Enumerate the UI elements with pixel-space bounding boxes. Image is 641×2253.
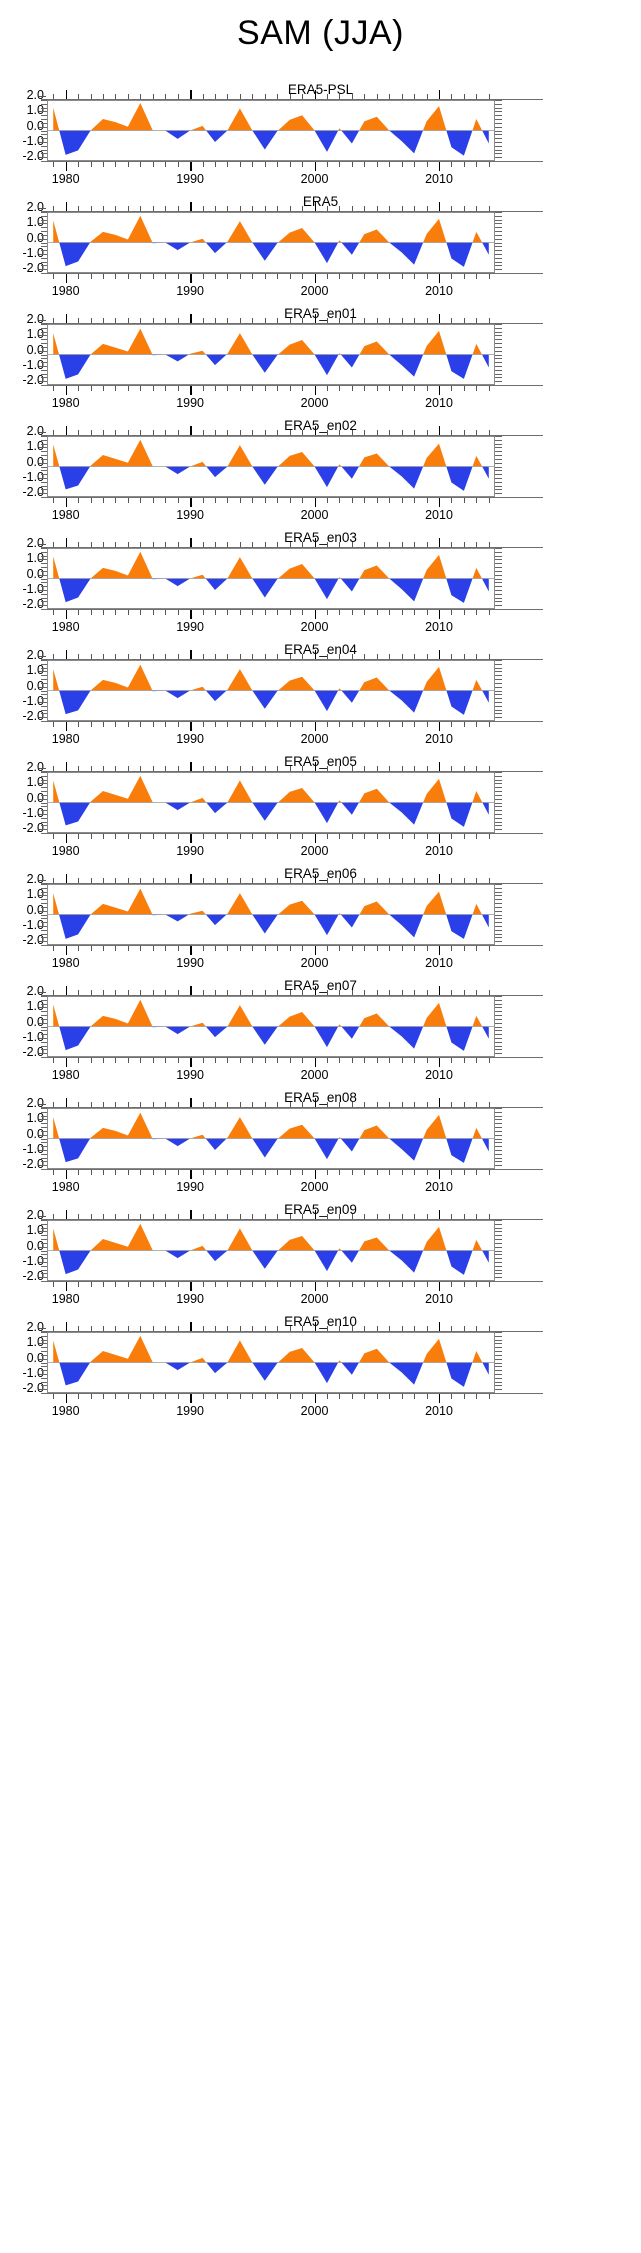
- y-tick-mark: [39, 208, 46, 209]
- x-axis-labels: 1980199020002010: [47, 1180, 495, 1196]
- y-tick-label: -1.0: [0, 696, 44, 706]
- x-tick-label: 2000: [301, 956, 329, 970]
- positive-fill: [53, 1000, 489, 1051]
- x-axis-ticks-top: [47, 762, 495, 771]
- y-tick-label: 0.0: [0, 457, 44, 467]
- y-tick-mark: [39, 432, 46, 433]
- positive-fill: [53, 1224, 489, 1275]
- plot-area: [47, 772, 495, 833]
- x-tick-label: 1980: [52, 956, 80, 970]
- x-tick-label: 2000: [301, 508, 329, 522]
- positive-fill: [53, 552, 489, 603]
- y-axis-labels: 2.01.00.0-1.0-2.0: [0, 1216, 44, 1284]
- y-tick-label: -2.0: [0, 487, 44, 497]
- x-axis-ticks-top: [47, 538, 495, 547]
- x-tick-label: 1990: [176, 284, 204, 298]
- y-tick-mark: [39, 768, 46, 769]
- y-axis-minor-ticks-right: [495, 884, 502, 945]
- series-area-era5-en04: [47, 660, 495, 721]
- x-tick-label: 2000: [301, 284, 329, 298]
- plot-area: [47, 212, 495, 273]
- x-tick-label: 1980: [52, 620, 80, 634]
- y-tick-label: 1.0: [0, 1337, 44, 1347]
- y-axis-minor-ticks-right: [495, 100, 502, 161]
- y-tick-label: 2.0: [0, 1098, 44, 1108]
- y-tick-label: 1.0: [0, 665, 44, 675]
- x-axis-labels: 1980199020002010: [47, 1068, 495, 1084]
- y-axis-minor-ticks-right: [495, 324, 502, 385]
- panel-era5: ERA52.01.00.0-1.0-2.01980199020002010: [0, 194, 641, 306]
- x-tick-label: 2010: [425, 396, 453, 410]
- y-axis-labels: 2.01.00.0-1.0-2.0: [0, 1328, 44, 1396]
- x-axis-labels: 1980199020002010: [47, 396, 495, 412]
- y-axis-labels: 2.01.00.0-1.0-2.0: [0, 1104, 44, 1172]
- y-tick-label: 2.0: [0, 874, 44, 884]
- panel-era5-en01: ERA5_en012.01.00.0-1.0-2.019801990200020…: [0, 306, 641, 418]
- panel-era5-psl: ERA5-PSL2.01.00.0-1.0-2.0198019902000201…: [0, 82, 641, 194]
- y-tick-label: -1.0: [0, 1032, 44, 1042]
- x-axis-ticks-top: [47, 202, 495, 211]
- y-tick-label: 1.0: [0, 1225, 44, 1235]
- x-axis-labels: 1980199020002010: [47, 732, 495, 748]
- x-tick-label: 2010: [425, 844, 453, 858]
- y-tick-label: 0.0: [0, 1017, 44, 1027]
- positive-fill: [53, 776, 489, 827]
- x-axis-ticks-bottom: [47, 162, 495, 171]
- plot-area: [47, 1332, 495, 1393]
- y-tick-mark: [39, 1216, 46, 1217]
- x-tick-label: 1990: [176, 396, 204, 410]
- y-axis-labels: 2.01.00.0-1.0-2.0: [0, 992, 44, 1060]
- y-tick-mark: [39, 656, 46, 657]
- positive-fill: [53, 329, 489, 379]
- y-tick-label: 0.0: [0, 681, 44, 691]
- y-tick-label: 0.0: [0, 569, 44, 579]
- y-tick-label: 1.0: [0, 217, 44, 227]
- x-axis-labels: 1980199020002010: [47, 172, 495, 188]
- y-axis-minor-ticks-right: [495, 996, 502, 1057]
- y-tick-mark: [39, 544, 46, 545]
- y-tick-label: -2.0: [0, 935, 44, 945]
- x-tick-label: 2010: [425, 1292, 453, 1306]
- panel-era5-en03: ERA5_en032.01.00.0-1.0-2.019801990200020…: [0, 530, 641, 642]
- x-axis-labels: 1980199020002010: [47, 956, 495, 972]
- x-tick-label: 1990: [176, 1292, 204, 1306]
- plot-area: [47, 996, 495, 1057]
- plot-area: [47, 324, 495, 385]
- x-axis-ticks-top: [47, 1098, 495, 1107]
- positive-fill: [53, 1113, 489, 1163]
- x-axis-ticks-top: [47, 314, 495, 323]
- y-tick-label: -2.0: [0, 375, 44, 385]
- series-area-era5: [47, 212, 495, 273]
- x-axis-ticks-bottom: [47, 498, 495, 507]
- x-tick-label: 1980: [52, 1068, 80, 1082]
- y-tick-label: -2.0: [0, 1159, 44, 1169]
- x-tick-label: 2010: [425, 508, 453, 522]
- x-axis-labels: 1980199020002010: [47, 1404, 495, 1420]
- panel-era5-en08: ERA5_en082.01.00.0-1.0-2.019801990200020…: [0, 1090, 641, 1202]
- x-axis-ticks-bottom: [47, 274, 495, 283]
- x-axis-ticks-top: [47, 1210, 495, 1219]
- y-tick-label: 2.0: [0, 90, 44, 100]
- x-tick-label: 2010: [425, 1180, 453, 1194]
- y-tick-label: -1.0: [0, 248, 44, 258]
- panel-era5-en04: ERA5_en042.01.00.0-1.0-2.019801990200020…: [0, 642, 641, 754]
- y-tick-label: 2.0: [0, 986, 44, 996]
- y-tick-label: 1.0: [0, 441, 44, 451]
- panel-era5-en05: ERA5_en052.01.00.0-1.0-2.019801990200020…: [0, 754, 641, 866]
- y-axis-labels: 2.01.00.0-1.0-2.0: [0, 880, 44, 948]
- y-tick-label: 2.0: [0, 314, 44, 324]
- x-tick-label: 1980: [52, 1404, 80, 1418]
- y-tick-label: -2.0: [0, 1047, 44, 1057]
- x-axis-ticks-bottom: [47, 610, 495, 619]
- series-area-era5-en05: [47, 772, 495, 833]
- y-axis-labels: 2.01.00.0-1.0-2.0: [0, 544, 44, 612]
- y-tick-label: -1.0: [0, 1144, 44, 1154]
- y-tick-label: -2.0: [0, 599, 44, 609]
- x-tick-label: 2010: [425, 732, 453, 746]
- x-tick-label: 1980: [52, 1292, 80, 1306]
- x-tick-label: 2000: [301, 1180, 329, 1194]
- x-axis-ticks-bottom: [47, 386, 495, 395]
- y-axis-minor-ticks-right: [495, 548, 502, 609]
- x-tick-label: 1990: [176, 1404, 204, 1418]
- x-axis-ticks-bottom: [47, 1170, 495, 1179]
- x-axis-labels: 1980199020002010: [47, 620, 495, 636]
- panel-era5-en07: ERA5_en072.01.00.0-1.0-2.019801990200020…: [0, 978, 641, 1090]
- panel-era5-en02: ERA5_en022.01.00.0-1.0-2.019801990200020…: [0, 418, 641, 530]
- series-area-era5-en08: [47, 1108, 495, 1169]
- y-axis-minor-ticks-right: [495, 660, 502, 721]
- y-axis-minor-ticks-right: [495, 436, 502, 497]
- x-tick-label: 1990: [176, 172, 204, 186]
- plot-area: [47, 436, 495, 497]
- series-area-era5-en02: [47, 436, 495, 497]
- x-tick-label: 2000: [301, 1068, 329, 1082]
- y-tick-label: -1.0: [0, 472, 44, 482]
- series-area-era5-en09: [47, 1220, 495, 1281]
- y-tick-label: 2.0: [0, 202, 44, 212]
- y-axis-minor-ticks-right: [495, 1220, 502, 1281]
- y-tick-label: 2.0: [0, 650, 44, 660]
- positive-fill: [53, 889, 489, 939]
- y-tick-mark: [39, 880, 46, 881]
- y-tick-label: 1.0: [0, 105, 44, 115]
- x-tick-label: 2000: [301, 172, 329, 186]
- y-tick-label: -1.0: [0, 136, 44, 146]
- y-tick-label: -1.0: [0, 584, 44, 594]
- y-tick-label: 1.0: [0, 1001, 44, 1011]
- y-tick-mark: [39, 96, 46, 97]
- plot-area: [47, 100, 495, 161]
- y-tick-mark: [39, 320, 46, 321]
- x-tick-label: 2010: [425, 172, 453, 186]
- x-axis-ticks-bottom: [47, 722, 495, 731]
- figure-root: SAM (JJA) ERA5-PSL2.01.00.0-1.0-2.019801…: [0, 0, 641, 2253]
- x-tick-label: 1980: [52, 284, 80, 298]
- x-axis-ticks-bottom: [47, 834, 495, 843]
- positive-fill: [53, 103, 489, 156]
- positive-fill: [53, 1336, 489, 1387]
- x-axis-labels: 1980199020002010: [47, 508, 495, 524]
- plot-area: [47, 1220, 495, 1281]
- x-tick-label: 1990: [176, 844, 204, 858]
- y-tick-label: -1.0: [0, 360, 44, 370]
- x-axis-ticks-top: [47, 650, 495, 659]
- x-tick-label: 2010: [425, 620, 453, 634]
- y-tick-label: -2.0: [0, 151, 44, 161]
- x-tick-label: 1990: [176, 1180, 204, 1194]
- series-area-era5-en06: [47, 884, 495, 945]
- x-tick-label: 1980: [52, 172, 80, 186]
- x-tick-label: 1980: [52, 844, 80, 858]
- x-tick-label: 1980: [52, 1180, 80, 1194]
- y-tick-label: 2.0: [0, 1210, 44, 1220]
- plot-area: [47, 884, 495, 945]
- panel-era5-en10: ERA5_en102.01.00.0-1.0-2.019801990200020…: [0, 1314, 641, 1426]
- y-tick-label: 1.0: [0, 1113, 44, 1123]
- y-axis-minor-ticks-right: [495, 772, 502, 833]
- y-tick-label: -1.0: [0, 920, 44, 930]
- y-axis-labels: 2.01.00.0-1.0-2.0: [0, 768, 44, 836]
- x-axis-ticks-top: [47, 986, 495, 995]
- y-axis-minor-ticks-right: [495, 212, 502, 273]
- series-area-era5-en03: [47, 548, 495, 609]
- y-tick-label: 0.0: [0, 1241, 44, 1251]
- series-area-era5-en01: [47, 324, 495, 385]
- x-axis-ticks-top: [47, 874, 495, 883]
- y-tick-label: 2.0: [0, 1322, 44, 1332]
- plot-area: [47, 548, 495, 609]
- y-tick-label: -1.0: [0, 808, 44, 818]
- y-tick-label: 1.0: [0, 777, 44, 787]
- series-area-era5-psl: [47, 100, 495, 161]
- panel-era5-en06: ERA5_en062.01.00.0-1.0-2.019801990200020…: [0, 866, 641, 978]
- y-tick-label: 1.0: [0, 329, 44, 339]
- y-axis-minor-ticks-right: [495, 1108, 502, 1169]
- y-tick-label: 0.0: [0, 793, 44, 803]
- y-tick-label: 1.0: [0, 553, 44, 563]
- y-tick-label: 2.0: [0, 538, 44, 548]
- y-tick-mark: [39, 992, 46, 993]
- panel-era5-en09: ERA5_en092.01.00.0-1.0-2.019801990200020…: [0, 1202, 641, 1314]
- x-tick-label: 1990: [176, 508, 204, 522]
- x-axis-ticks-bottom: [47, 1282, 495, 1291]
- x-axis-labels: 1980199020002010: [47, 1292, 495, 1308]
- x-tick-label: 1990: [176, 956, 204, 970]
- x-tick-label: 2000: [301, 1404, 329, 1418]
- x-tick-label: 2000: [301, 396, 329, 410]
- y-tick-label: -2.0: [0, 1271, 44, 1281]
- x-tick-label: 1990: [176, 732, 204, 746]
- x-axis-ticks-bottom: [47, 946, 495, 955]
- y-tick-label: -2.0: [0, 823, 44, 833]
- x-tick-label: 2010: [425, 956, 453, 970]
- x-axis-ticks-bottom: [47, 1394, 495, 1403]
- x-tick-label: 1980: [52, 396, 80, 410]
- positive-fill: [53, 440, 489, 491]
- y-tick-label: -2.0: [0, 1383, 44, 1393]
- x-tick-label: 2010: [425, 1404, 453, 1418]
- x-tick-label: 2000: [301, 620, 329, 634]
- y-tick-label: 2.0: [0, 762, 44, 772]
- y-axis-labels: 2.01.00.0-1.0-2.0: [0, 208, 44, 276]
- y-tick-label: -1.0: [0, 1256, 44, 1266]
- x-tick-label: 1980: [52, 732, 80, 746]
- y-axis-labels: 2.01.00.0-1.0-2.0: [0, 320, 44, 388]
- y-axis-minor-ticks-right: [495, 1332, 502, 1393]
- y-tick-label: 0.0: [0, 121, 44, 131]
- x-axis-ticks-top: [47, 90, 495, 99]
- y-tick-label: 0.0: [0, 905, 44, 915]
- x-axis-ticks-top: [47, 426, 495, 435]
- x-axis-labels: 1980199020002010: [47, 284, 495, 300]
- x-tick-label: 2000: [301, 844, 329, 858]
- x-tick-label: 1990: [176, 620, 204, 634]
- x-axis-labels: 1980199020002010: [47, 844, 495, 860]
- y-axis-labels: 2.01.00.0-1.0-2.0: [0, 656, 44, 724]
- plot-area: [47, 1108, 495, 1169]
- plot-area: [47, 660, 495, 721]
- x-tick-label: 2010: [425, 284, 453, 298]
- y-tick-label: 2.0: [0, 426, 44, 436]
- x-tick-label: 2000: [301, 1292, 329, 1306]
- positive-fill: [53, 665, 489, 715]
- y-tick-label: 0.0: [0, 1353, 44, 1363]
- x-tick-label: 1990: [176, 1068, 204, 1082]
- x-tick-label: 2010: [425, 1068, 453, 1082]
- y-tick-mark: [39, 1104, 46, 1105]
- y-tick-label: 0.0: [0, 1129, 44, 1139]
- positive-fill: [53, 216, 489, 267]
- x-tick-label: 1980: [52, 508, 80, 522]
- figure-title: SAM (JJA): [0, 14, 641, 53]
- x-tick-label: 2000: [301, 732, 329, 746]
- y-tick-mark: [39, 1328, 46, 1329]
- x-axis-ticks-bottom: [47, 1058, 495, 1067]
- y-tick-label: 1.0: [0, 889, 44, 899]
- y-tick-label: 0.0: [0, 233, 44, 243]
- y-tick-label: -2.0: [0, 711, 44, 721]
- y-tick-label: -1.0: [0, 1368, 44, 1378]
- y-tick-label: 0.0: [0, 345, 44, 355]
- series-area-era5-en10: [47, 1332, 495, 1393]
- y-axis-labels: 2.01.00.0-1.0-2.0: [0, 96, 44, 164]
- series-area-era5-en07: [47, 996, 495, 1057]
- y-tick-label: -2.0: [0, 263, 44, 273]
- y-axis-labels: 2.01.00.0-1.0-2.0: [0, 432, 44, 500]
- x-axis-ticks-top: [47, 1322, 495, 1331]
